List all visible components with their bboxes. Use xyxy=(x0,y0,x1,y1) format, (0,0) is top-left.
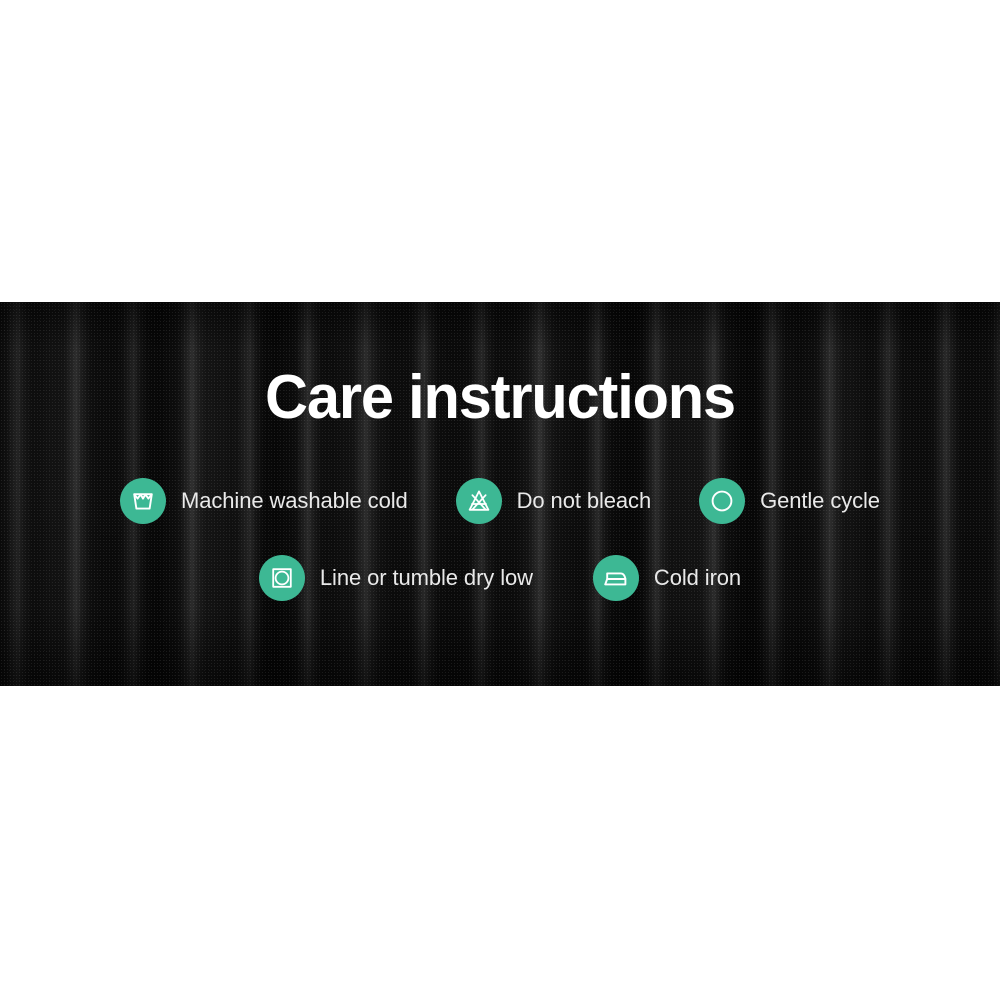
tumble-dry-square-icon xyxy=(259,555,305,601)
iron-icon xyxy=(593,555,639,601)
care-item-gentle-cycle: Gentle cycle xyxy=(699,478,880,524)
care-row-2: Line or tumble dry low Cold iron xyxy=(0,555,1000,601)
care-label: Machine washable cold xyxy=(181,488,408,514)
care-label: Gentle cycle xyxy=(760,488,880,514)
care-item-do-not-bleach: Do not bleach xyxy=(456,478,651,524)
care-instruction-list: Machine washable cold Do not bleach xyxy=(0,478,1000,601)
no-bleach-triangle-icon xyxy=(456,478,502,524)
care-item-line-or-tumble-dry-low: Line or tumble dry low xyxy=(259,555,533,601)
care-label: Line or tumble dry low xyxy=(320,565,533,591)
banner-content: Care instructions Machine washable cold xyxy=(0,0,1000,1000)
care-instructions-banner-page: Care instructions Machine washable cold xyxy=(0,0,1000,1000)
page-title: Care instructions xyxy=(20,362,980,434)
care-label: Do not bleach xyxy=(517,488,651,514)
care-row-1: Machine washable cold Do not bleach xyxy=(0,478,1000,524)
gentle-cycle-ring-icon xyxy=(699,478,745,524)
wash-tub-icon xyxy=(120,478,166,524)
care-item-cold-iron: Cold iron xyxy=(593,555,741,601)
care-item-machine-washable-cold: Machine washable cold xyxy=(120,478,408,524)
care-label: Cold iron xyxy=(654,565,741,591)
